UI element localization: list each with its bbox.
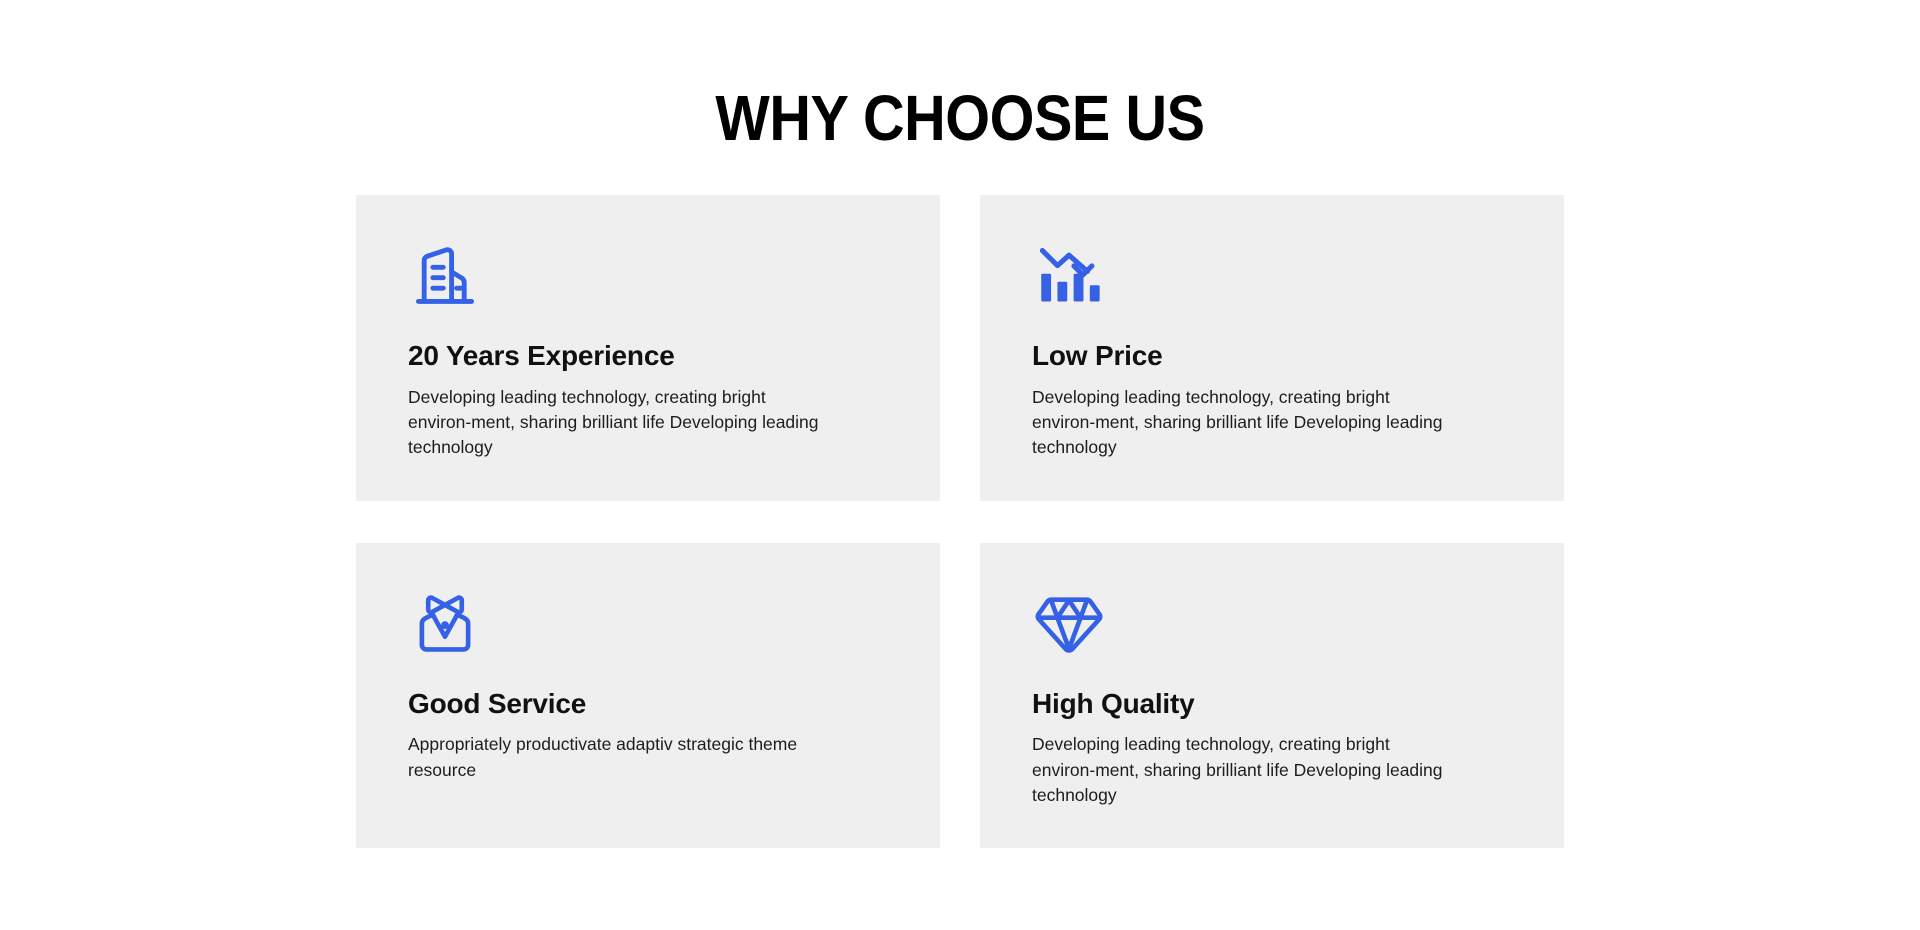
card-title: Good Service <box>408 687 586 721</box>
feature-card-experience[interactable]: 20 Years Experience Developing leading t… <box>356 195 940 501</box>
tuxedo-bowtie-icon <box>408 587 482 661</box>
feature-card-good-service[interactable]: Good Service Appropriately productivate … <box>356 543 940 849</box>
feature-card-high-quality[interactable]: High Quality Developing leading technolo… <box>980 543 1564 849</box>
card-description: Developing leading technology, creating … <box>1032 385 1452 461</box>
card-description: Developing leading technology, creating … <box>1032 732 1452 808</box>
diamond-icon <box>1032 587 1106 661</box>
bar-chart-down-icon <box>1032 239 1106 313</box>
page-title: WHY CHOOSE US <box>96 0 1824 150</box>
card-description: Appropriately productivate adaptiv strat… <box>408 732 828 783</box>
card-title: High Quality <box>1032 687 1195 721</box>
building-icon <box>408 239 482 313</box>
feature-card-low-price[interactable]: Low Price Developing leading technology,… <box>980 195 1564 501</box>
card-description: Developing leading technology, creating … <box>408 385 828 461</box>
card-title: Low Price <box>1032 339 1162 373</box>
why-choose-us-section: WHY CHOOSE US 20 Years Experience Develo… <box>0 0 1920 930</box>
card-title: 20 Years Experience <box>408 339 675 373</box>
feature-card-grid: 20 Years Experience Developing leading t… <box>356 195 1564 848</box>
